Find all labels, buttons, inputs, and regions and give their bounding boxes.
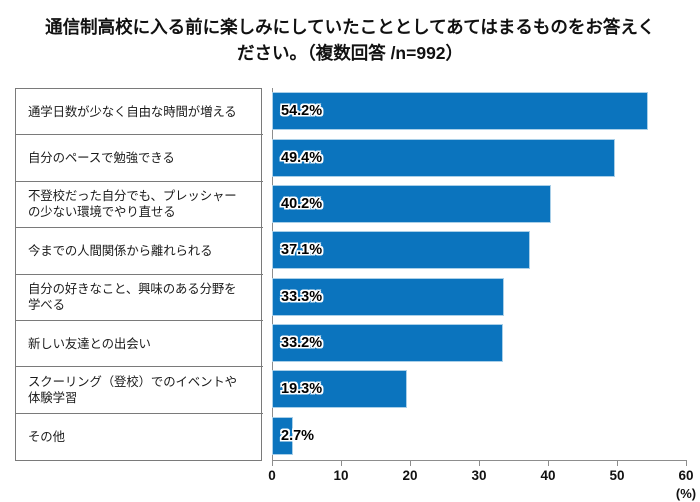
x-axis-tick-label: 20: [402, 468, 417, 483]
category-label-cell: 新しい友達との出会い: [16, 321, 263, 367]
category-label-cell: その他: [16, 414, 263, 460]
category-label-text: その他: [28, 429, 65, 445]
bar-value-label: 37.1%: [281, 232, 322, 268]
bars-region: 54.2%49.4%40.2%37.1%33.3%33.2%19.3%2.7%0…: [272, 88, 686, 461]
x-axis-tick-label: 40: [540, 468, 555, 483]
x-axis-tick: [272, 460, 273, 466]
x-axis-tick: [617, 460, 618, 466]
category-label-table: 通学日数が少なく自由な時間が増える自分のペースで勉強できる不登校だった自分でも、…: [15, 88, 262, 461]
category-label-cell: 自分のペースで勉強できる: [16, 135, 263, 181]
category-label-text: 自分の好きなこと、興味のある分野を 学べる: [28, 281, 236, 313]
x-axis-tick: [341, 460, 342, 466]
x-axis-tick: [479, 460, 480, 466]
x-axis-tick: [686, 460, 687, 466]
x-axis-tick-label: 50: [609, 468, 624, 483]
bar-value-label: 2.7%: [281, 418, 314, 454]
x-axis-tick-label: 10: [333, 468, 348, 483]
bar-value-label: 54.2%: [281, 93, 322, 129]
category-label-text: 自分のペースで勉強できる: [28, 150, 175, 166]
category-label-text: 不登校だった自分でも、プレッシャー の少ない環境でやり直せる: [28, 188, 237, 220]
category-label-text: 通学日数が少なく自由な時間が増える: [28, 104, 237, 120]
x-axis-tick: [548, 460, 549, 466]
x-axis-unit-label: (%): [676, 486, 696, 501]
bar-value-label: 33.3%: [281, 279, 322, 315]
x-axis-tick-label: 0: [268, 468, 276, 483]
category-label-text: スクーリング（登校）でのイベントや 体験学習: [28, 374, 237, 406]
category-label-cell: スクーリング（登校）でのイベントや 体験学習: [16, 367, 263, 413]
category-label-cell: 不登校だった自分でも、プレッシャー の少ない環境でやり直せる: [16, 182, 263, 228]
bar-value-label: 49.4%: [281, 140, 322, 176]
category-label-text: 新しい友達との出会い: [28, 336, 151, 352]
category-label-text: 今までの人間関係から離れられる: [28, 243, 212, 259]
bar-chart: 通学日数が少なく自由な時間が増える自分のペースで勉強できる不登校だった自分でも、…: [0, 0, 700, 502]
bar-value-label: 19.3%: [281, 371, 322, 407]
category-label-cell: 自分の好きなこと、興味のある分野を 学べる: [16, 275, 263, 321]
bar-value-label: 40.2%: [281, 186, 322, 222]
category-label-cell: 通学日数が少なく自由な時間が増える: [16, 89, 263, 135]
x-axis-tick-label: 60: [678, 468, 693, 483]
x-axis-tick-label: 30: [471, 468, 486, 483]
bar: [273, 93, 647, 129]
bar-value-label: 33.2%: [281, 325, 322, 361]
category-label-cell: 今までの人間関係から離れられる: [16, 228, 263, 274]
bar: [273, 140, 614, 176]
x-axis-tick: [410, 460, 411, 466]
